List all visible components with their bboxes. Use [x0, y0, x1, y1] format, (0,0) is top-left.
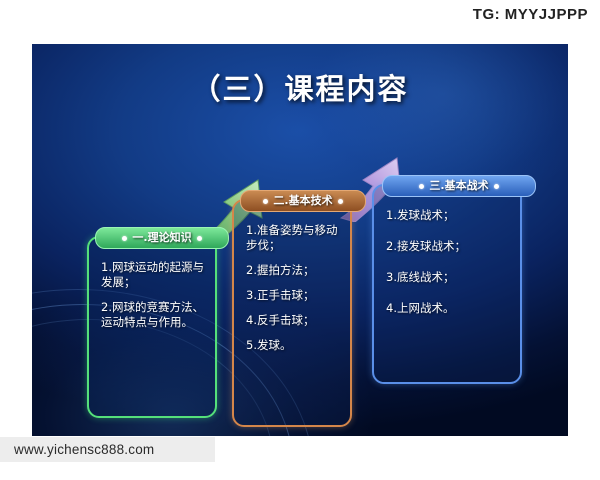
- box-body-theory: 1.网球运动的起源与发展； 2.网球的竞赛方法、运动特点与作用。: [89, 238, 215, 416]
- box-body-skills: 1.准备姿势与移动步伐； 2.握拍方法； 3.正手击球； 4.反手击球； 5.发…: [234, 201, 350, 425]
- site-watermark: www.yichensc888.com: [0, 437, 215, 462]
- bullet-dot-icon: [419, 184, 424, 189]
- box-line: 2.网球的竞赛方法、运动特点与作用。: [101, 300, 205, 330]
- content-box-theory: 一.理论知识 1.网球运动的起源与发展； 2.网球的竞赛方法、运动特点与作用。: [87, 236, 217, 418]
- box-header-label: 三.基本战术: [429, 176, 488, 196]
- box-line: 4.上网战术。: [386, 301, 510, 316]
- presentation-slide: （三）课程内容 一.理论知识 1.网球运: [32, 44, 568, 436]
- content-box-tactics: 三.基本战术 1.发球战术； 2.接发球战术； 3.底线战术； 4.上网战术。: [372, 184, 522, 384]
- box-line: 3.底线战术；: [386, 270, 510, 285]
- box-line: 5.发球。: [246, 338, 340, 353]
- box-line: 2.接发球战术；: [386, 239, 510, 254]
- bullet-dot-icon: [263, 199, 268, 204]
- bullet-dot-icon: [197, 236, 202, 241]
- box-line: 1.发球战术；: [386, 208, 510, 223]
- box-line: 1.网球运动的起源与发展；: [101, 260, 205, 290]
- box-header-label: 二.基本技术: [273, 191, 332, 211]
- bullet-dot-icon: [494, 184, 499, 189]
- box-header-skills: 二.基本技术: [240, 190, 366, 212]
- box-line: 4.反手击球；: [246, 313, 340, 328]
- box-line: 3.正手击球；: [246, 288, 340, 303]
- box-header-tactics: 三.基本战术: [382, 175, 536, 197]
- slide-title: （三）课程内容: [32, 66, 568, 108]
- telegram-watermark: TG: MYYJJPPP: [459, 0, 600, 29]
- content-box-skills: 二.基本技术 1.准备姿势与移动步伐； 2.握拍方法； 3.正手击球； 4.反手…: [232, 199, 352, 427]
- bullet-dot-icon: [338, 199, 343, 204]
- bullet-dot-icon: [122, 236, 127, 241]
- box-line: 2.握拍方法；: [246, 263, 340, 278]
- box-line: 1.准备姿势与移动步伐；: [246, 223, 340, 253]
- box-header-theory: 一.理论知识: [95, 227, 229, 249]
- box-body-tactics: 1.发球战术； 2.接发球战术； 3.底线战术； 4.上网战术。: [374, 186, 520, 382]
- box-header-label: 一.理论知识: [132, 228, 191, 248]
